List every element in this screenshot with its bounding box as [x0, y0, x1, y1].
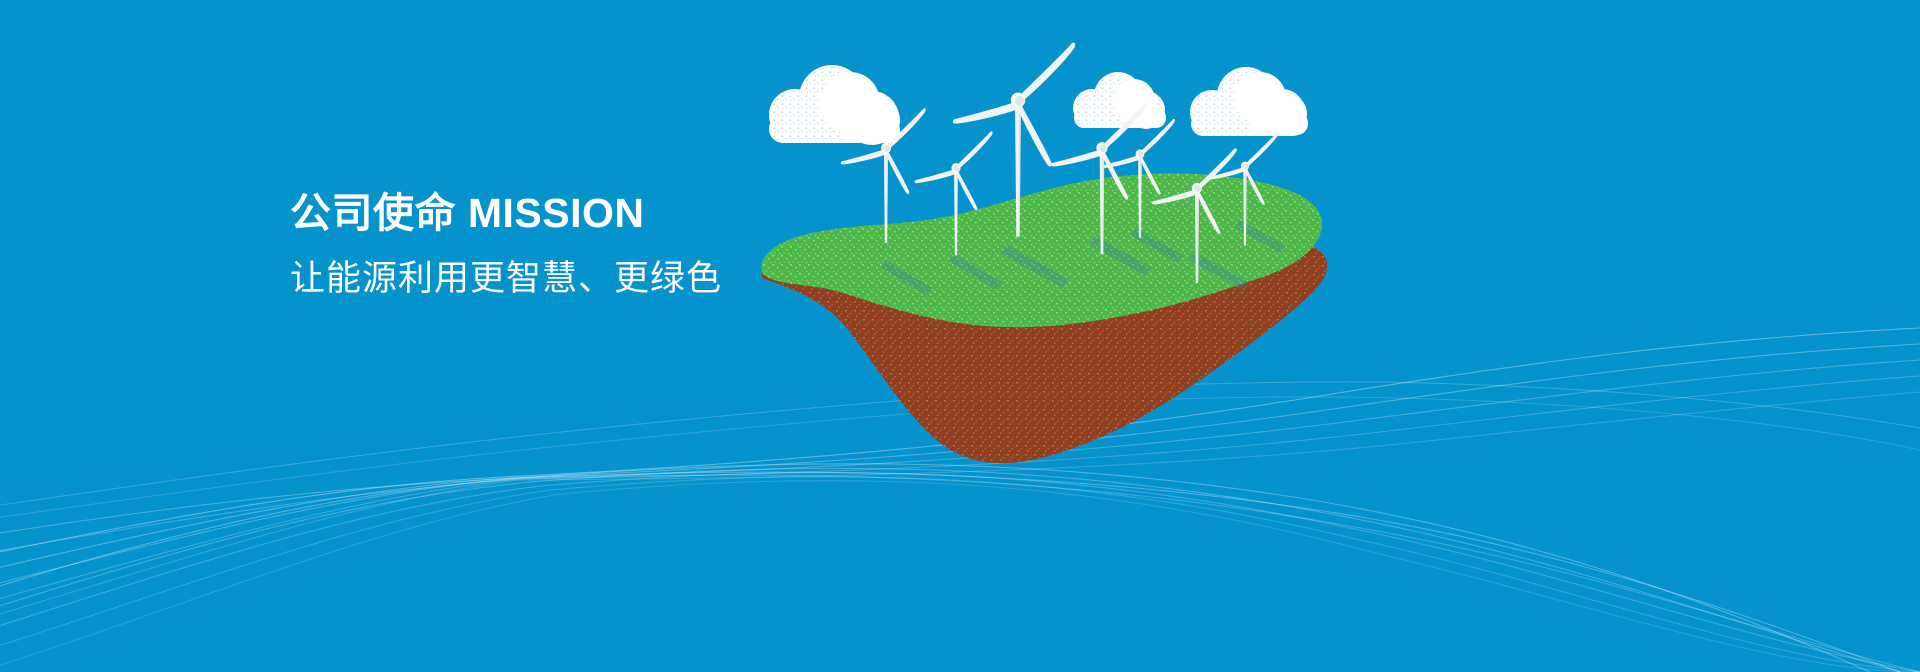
cloud-right: [1190, 67, 1308, 136]
mission-text-block: 公司使命 MISSION 让能源利用更智慧、更绿色: [290, 190, 850, 300]
page-title: 公司使命 MISSION: [290, 190, 850, 237]
mission-banner: 公司使命 MISSION 让能源利用更智慧、更绿色: [0, 0, 1920, 672]
mission-subtitle: 让能源利用更智慧、更绿色: [290, 258, 850, 300]
cloud-left: [769, 65, 900, 145]
cloud-middle: [1073, 72, 1166, 129]
